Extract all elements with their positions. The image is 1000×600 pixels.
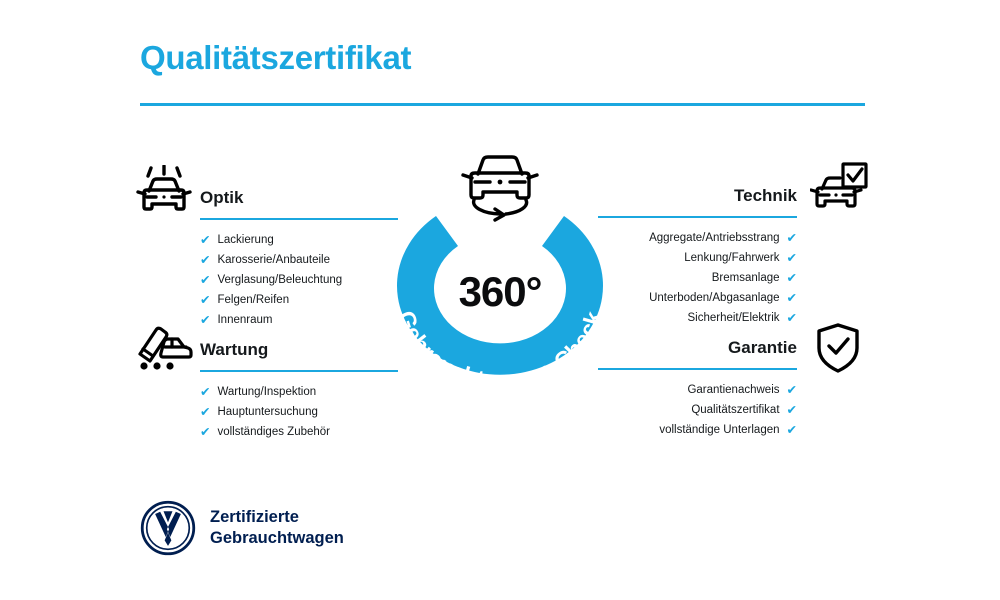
- list-item-label: Karosserie/Anbauteile: [217, 250, 330, 270]
- list-item: Lenkung/Fahrwerk ✔: [598, 248, 797, 268]
- list-item-label: Lenkung/Fahrwerk: [684, 248, 779, 268]
- list-item-label: Innenraum: [217, 310, 272, 330]
- list-item-label: Wartung/Inspektion: [217, 382, 316, 402]
- list-item-label: Verglasung/Beleuchtung: [217, 270, 342, 290]
- checklist-technik: Aggregate/Antriebsstrang ✔ Lenkung/Fahrw…: [598, 228, 797, 328]
- brand-footer-text: Zertifizierte Gebrauchtwagen: [210, 507, 344, 549]
- check-icon: ✔: [787, 384, 797, 397]
- section-title-optik: Optik: [200, 186, 398, 210]
- check-icon: ✔: [787, 292, 797, 305]
- check-icon: ✔: [200, 386, 210, 399]
- car-checkbox-icon: [810, 162, 868, 219]
- check-icon: ✔: [787, 232, 797, 245]
- check-icon: ✔: [200, 426, 210, 439]
- checklist-optik: ✔ Lackierung ✔ Karosserie/Anbauteile ✔ V…: [200, 230, 398, 330]
- check-icon: ✔: [200, 314, 210, 327]
- list-item: ✔ vollständiges Zubehör: [200, 422, 398, 442]
- list-item: ✔ Innenraum: [200, 310, 398, 330]
- header-divider: [140, 103, 865, 106]
- list-item: ✔ Lackierung: [200, 230, 398, 250]
- car-service-pen-icon: [134, 320, 194, 377]
- list-item: Aggregate/Antriebsstrang ✔: [598, 228, 797, 248]
- section-title-wartung: Wartung: [200, 338, 398, 362]
- list-item-label: Aggregate/Antriebsstrang: [649, 228, 779, 248]
- list-item: ✔ Verglasung/Beleuchtung: [200, 270, 398, 290]
- list-item-label: Unterboden/Abgasanlage: [649, 288, 779, 308]
- list-item: ✔ Wartung/Inspektion: [200, 382, 398, 402]
- list-item: ✔ Hauptuntersuchung: [200, 402, 398, 422]
- check-icon: ✔: [200, 406, 210, 419]
- list-item-label: Qualitätszertifikat: [691, 400, 779, 420]
- list-item: Qualitätszertifikat ✔: [598, 400, 797, 420]
- list-item-label: Felgen/Reifen: [217, 290, 289, 310]
- section-garantie: Garantie Garantienachweis ✔ Qualitätszer…: [598, 336, 797, 440]
- brand-footer: Zertifizierte Gebrauchtwagen: [140, 500, 344, 556]
- list-item-label: Lackierung: [217, 230, 273, 250]
- checklist-wartung: ✔ Wartung/Inspektion ✔ Hauptuntersuchung…: [200, 382, 398, 442]
- certificate-page: Qualitätszertifikat: [0, 0, 1000, 600]
- list-item: ✔ Felgen/Reifen: [200, 290, 398, 310]
- section-header-technik: Technik: [598, 184, 797, 218]
- checklist-garantie: Garantienachweis ✔ Qualitätszertifikat ✔…: [598, 380, 797, 440]
- section-header-garantie: Garantie: [598, 336, 797, 370]
- section-divider-wartung: [200, 370, 398, 372]
- list-item: Bremsanlage ✔: [598, 268, 797, 288]
- brand-footer-line2: Gebrauchtwagen: [210, 528, 344, 549]
- page-title: Qualitätszertifikat: [140, 40, 411, 76]
- check-icon: ✔: [200, 294, 210, 307]
- list-item-label: Garantienachweis: [687, 380, 779, 400]
- list-item: vollständige Unterlagen ✔: [598, 420, 797, 440]
- check-icon: ✔: [787, 424, 797, 437]
- list-item: Unterboden/Abgasanlage ✔: [598, 288, 797, 308]
- section-divider-optik: [200, 218, 398, 220]
- car-shine-icon: [134, 165, 194, 222]
- section-header-optik: Optik: [200, 186, 398, 220]
- list-item: Sicherheit/Elektrik ✔: [598, 308, 797, 328]
- check-icon: ✔: [787, 312, 797, 325]
- section-title-technik: Technik: [598, 184, 797, 208]
- section-header-wartung: Wartung: [200, 338, 398, 372]
- check-icon: ✔: [200, 234, 210, 247]
- section-divider-technik: [598, 216, 797, 218]
- section-technik: Technik Aggregate/Antriebsstrang ✔ Lenku…: [598, 184, 797, 328]
- volkswagen-logo: [140, 500, 196, 556]
- shield-check-icon: [815, 322, 861, 379]
- list-item-label: Sicherheit/Elektrik: [687, 308, 779, 328]
- list-item-label: vollständiges Zubehör: [217, 422, 330, 442]
- brand-footer-line1: Zertifizierte: [210, 507, 344, 528]
- check-icon: ✔: [787, 252, 797, 265]
- badge-360-check: Gebrauchtwagen-Check 360°: [366, 148, 634, 398]
- list-item-label: Hauptuntersuchung: [217, 402, 317, 422]
- check-icon: ✔: [787, 272, 797, 285]
- section-wartung: Wartung ✔ Wartung/Inspektion ✔ Hauptunte…: [200, 338, 398, 442]
- list-item-label: Bremsanlage: [712, 268, 780, 288]
- section-optik: Optik ✔ Lackierung ✔ Karosserie/Anbautei…: [200, 186, 398, 330]
- section-title-garantie: Garantie: [598, 336, 797, 360]
- check-icon: ✔: [200, 254, 210, 267]
- badge-value: 360°: [366, 268, 634, 316]
- car-rotate-360-icon: [456, 148, 544, 230]
- check-icon: ✔: [200, 274, 210, 287]
- list-item: Garantienachweis ✔: [598, 380, 797, 400]
- list-item-label: vollständige Unterlagen: [659, 420, 779, 440]
- list-item: ✔ Karosserie/Anbauteile: [200, 250, 398, 270]
- section-divider-garantie: [598, 368, 797, 370]
- check-icon: ✔: [787, 404, 797, 417]
